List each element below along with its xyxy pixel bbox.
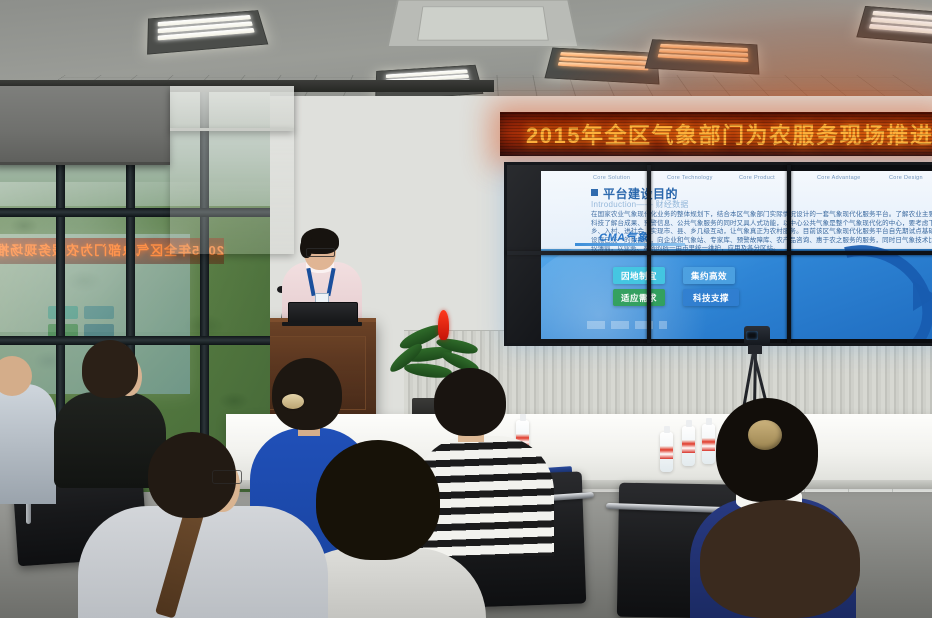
vent-grille [417,6,549,40]
conference-room-photo: 2015年全区气象部门为农服务现场推进会 Core Solution Core … [0,0,932,618]
hair-clip [282,394,304,409]
audience-head [82,340,138,398]
tripod-head [748,344,762,354]
roller-blind[interactable] [170,86,294,131]
ceiling-light-fixture [147,10,268,55]
roller-blind[interactable] [0,86,170,165]
presenter-glasses-icon [306,248,335,257]
presentation-slide: Core Solution Core Technology Core Produ… [541,171,932,339]
hair-bun [748,420,782,450]
slide-subtitle: Introduction—— 财经数据 [591,199,689,210]
audience-head [272,358,342,430]
water-bottle[interactable] [660,432,673,472]
audience-head [716,398,818,502]
slide-footer-chips [587,321,667,329]
camera-lens-icon [746,331,758,340]
audience-member-body [78,506,328,618]
window-transom [0,336,270,345]
plant-red-flower [438,310,449,340]
slide-tab-0: Core Solution [593,175,630,181]
led-scanline-overlay [500,112,932,156]
slide-arrow-head-graphic [913,281,932,311]
water-bottle[interactable] [682,426,695,466]
slide-box-2: 适应需求 [613,289,665,306]
audience-head [316,440,440,560]
air-conditioner-vent [386,0,579,48]
video-wall-display: Core Solution Core Technology Core Produ… [504,162,932,346]
led-banner: 2015年全区气象部门为农服务现场推进会 [500,112,932,156]
water-bottle[interactable] [702,424,715,464]
audience-head [434,368,506,436]
slide-box-0: 因地制宜 [613,267,665,284]
audience-glasses-icon [212,470,242,484]
panel-bezel-horizontal [507,251,932,255]
audience-member-partial [0,384,56,504]
slide-tab-1: Core Technology [667,175,713,181]
slide-tab-3: Core Advantage [817,175,861,181]
audience-head-foreground [700,500,860,618]
slide-logo: CMA气象 [599,229,649,245]
laptop-base [282,322,362,326]
roller-blind-sheer [170,128,294,254]
slide-tab-4: Core Design [889,175,923,181]
slide-heading-bullet-icon [591,189,598,196]
slide-box-3: 科技支撑 [683,289,739,306]
slide-tab-2: Core Product [739,175,775,181]
slide-box-1: 集约高效 [683,267,735,284]
